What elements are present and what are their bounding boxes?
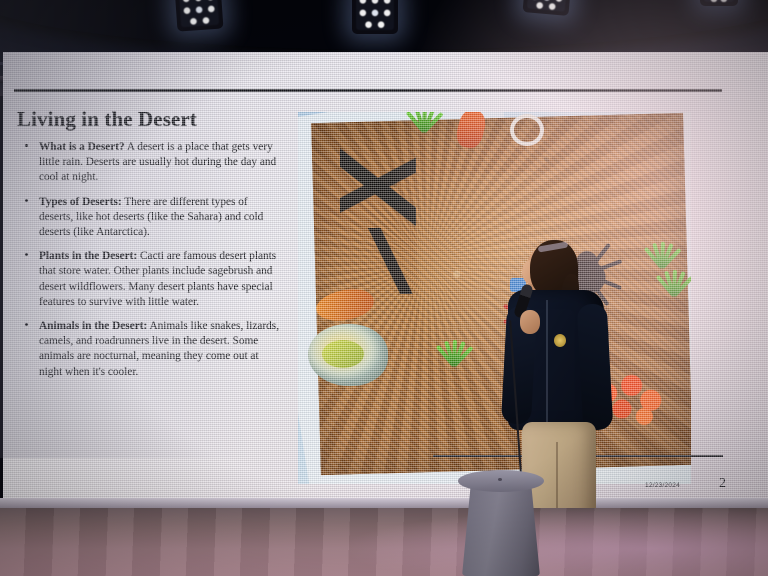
- presentation-slide: Living in the Desert What is a Desert? A…: [3, 52, 768, 510]
- slide-top-rule: [14, 89, 722, 92]
- bullet-lead: What is a Desert?: [39, 141, 125, 153]
- list-item: Plants in the Desert: Cacti are famous d…: [17, 249, 283, 310]
- black-insect-toy: [360, 228, 418, 294]
- black-scorpion-toy: [340, 140, 416, 236]
- stool-seat: [458, 470, 544, 492]
- led-array-icon: [179, 0, 219, 27]
- stage-led-light: [700, 0, 738, 6]
- hoodie-zipper: [546, 300, 548, 426]
- list-item: What is a Desert? A desert is a place th…: [17, 140, 283, 186]
- gray-stool: [462, 478, 540, 576]
- led-array-icon: [527, 0, 567, 12]
- bullet-text: Animals in the Desert: Animals like snak…: [39, 319, 283, 380]
- bullet-text: Types of Deserts: There are different ty…: [39, 195, 283, 241]
- presenter-hand: [520, 310, 540, 334]
- bullet-list: What is a Desert? A desert is a place th…: [17, 140, 283, 389]
- list-item: Types of Deserts: There are different ty…: [17, 195, 283, 241]
- bullet-text: What is a Desert? A desert is a place th…: [39, 140, 283, 186]
- bullet-text: Plants in the Desert: Cacti are famous d…: [39, 249, 283, 310]
- presenter-right-arm: [577, 303, 614, 430]
- stage-led-light: [352, 0, 398, 34]
- stool-seat-button: [498, 478, 502, 481]
- hoodie-logo: [554, 334, 566, 347]
- bullet-dot-icon: [25, 323, 28, 326]
- bullet-dot-icon: [25, 199, 28, 202]
- bullet-dot-icon: [25, 253, 28, 256]
- bullet-lead: Plants in the Desert:: [39, 250, 137, 262]
- led-array-icon: [356, 0, 394, 30]
- green-lizard-toy: [322, 340, 364, 368]
- green-plant-toy: [440, 340, 482, 366]
- bullet-lead: Types of Deserts:: [39, 196, 122, 208]
- page-title: Living in the Desert: [17, 107, 197, 132]
- slide-date: 12/23/2024: [645, 482, 680, 489]
- bullet-lead: Animals in the Desert:: [39, 320, 147, 332]
- stage-scene: Living in the Desert What is a Desert? A…: [0, 0, 768, 576]
- led-array-icon: [704, 0, 734, 2]
- list-item: Animals in the Desert: Animals like snak…: [17, 319, 283, 380]
- white-ring-prop: [510, 114, 544, 146]
- floor-light-reflection: [348, 508, 768, 576]
- green-plant-toy: [410, 112, 450, 132]
- desert-diorama-photo: [298, 112, 691, 484]
- bullet-dot-icon: [25, 144, 28, 147]
- stage-led-light: [175, 0, 224, 32]
- led-video-wall: Living in the Desert What is a Desert? A…: [3, 52, 768, 510]
- green-plant-toy: [660, 258, 691, 296]
- slide-page-number: 2: [719, 476, 726, 492]
